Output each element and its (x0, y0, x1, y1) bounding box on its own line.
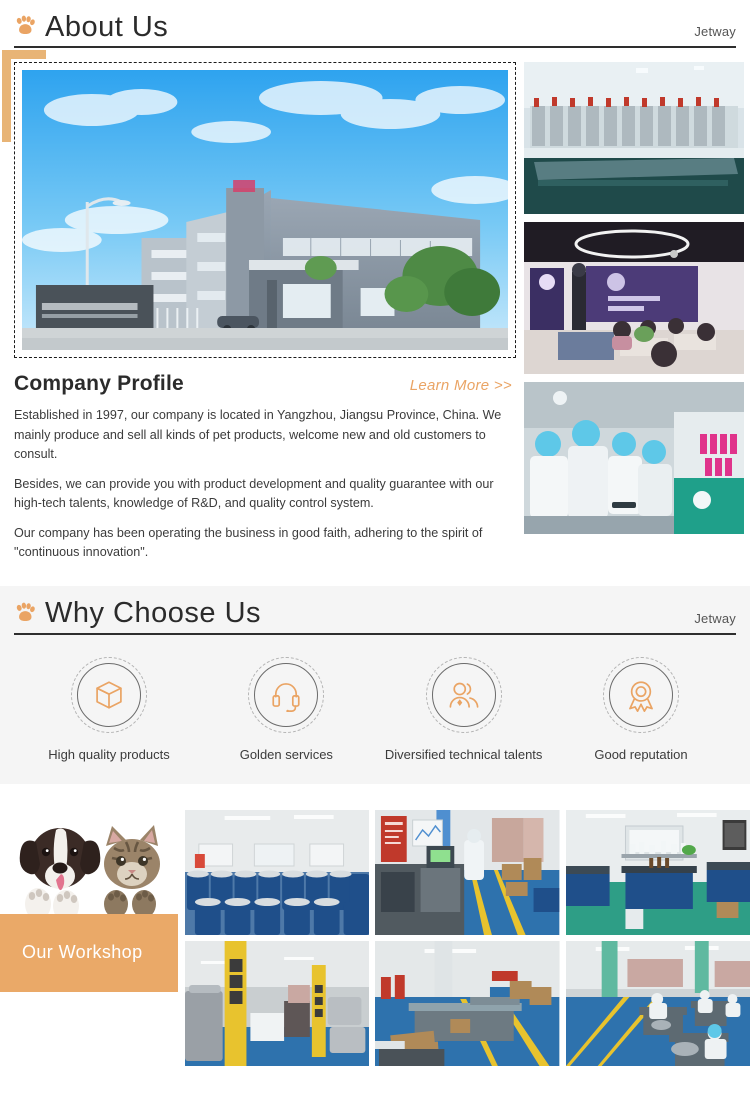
about-us-page: About Us Jetway (0, 0, 750, 1076)
feature-ring (71, 657, 147, 733)
sewing-workshop-photo (566, 941, 750, 1066)
feature-label: Good reputation (556, 747, 726, 762)
packaging-area-photo (375, 941, 559, 1066)
workshop-photo-grid (185, 810, 750, 1066)
production-machinery-photo (375, 810, 559, 935)
profile-paragraph: Our company has been operating the busin… (14, 524, 516, 562)
profile-paragraph: Established in 1997, our company is loca… (14, 406, 516, 463)
why-header-left: Why Choose Us (14, 598, 261, 628)
award-ribbon-icon (624, 678, 658, 712)
dog-and-cat-illustration (8, 810, 174, 916)
feature-item-good-reputation[interactable]: Good reputation (556, 657, 726, 762)
company-profile: Company Profile Learn More >> Establishe… (14, 358, 516, 562)
feature-label: Diversified technical talents (379, 747, 549, 762)
workshop-banner-label: Our Workshop (22, 942, 143, 963)
workshop-banner-block: Our Workshop (0, 810, 178, 992)
why-title: Why Choose Us (45, 598, 261, 628)
why-choose-us-section: Why Choose Us Jetway High quality prod (0, 586, 750, 783)
feature-ring (603, 657, 679, 733)
profile-title: Company Profile (14, 372, 184, 396)
learn-more-link[interactable]: Learn More >> (410, 377, 512, 394)
feature-item-diversified-technical-talents[interactable]: Diversified technical talents (379, 657, 549, 762)
profile-header: Company Profile Learn More >> (14, 372, 516, 396)
paw-icon (14, 601, 36, 623)
feature-ring (426, 657, 502, 733)
about-title: About Us (45, 12, 168, 42)
hero-photo-frame (14, 62, 516, 358)
blue-barrels-storage-photo (185, 810, 369, 935)
profile-body: Established in 1997, our company is loca… (14, 396, 516, 562)
feature-label: High quality products (24, 747, 194, 762)
profile-paragraph: Besides, we can provide you with product… (14, 475, 516, 513)
feature-list: High quality products Golden service (0, 635, 750, 762)
why-brand-label: Jetway (694, 611, 736, 629)
headset-icon (269, 678, 303, 712)
about-right-photos (524, 62, 744, 534)
embroidery-machines-photo (524, 62, 744, 214)
about-header-left: About Us (14, 12, 168, 42)
laboratory-photo (566, 810, 750, 935)
why-header-row: Why Choose Us Jetway (14, 598, 736, 634)
feature-ring-inner (432, 663, 496, 727)
about-header-row: About Us Jetway (14, 12, 736, 48)
about-brand-label: Jetway (694, 24, 736, 42)
people-group-icon (447, 678, 481, 712)
pets-illustration-wrap (0, 810, 178, 914)
fabric-storage-photo (185, 941, 369, 1066)
about-section-header: About Us Jetway (0, 0, 750, 48)
paw-icon (14, 14, 36, 36)
cleanroom-workers-photo (524, 382, 744, 534)
feature-ring-inner (77, 663, 141, 727)
feature-ring-inner (254, 663, 318, 727)
feature-ring (248, 657, 324, 733)
about-content: Company Profile Learn More >> Establishe… (0, 48, 750, 562)
feature-label: Golden services (201, 747, 371, 762)
why-section-header: Why Choose Us Jetway (0, 586, 750, 634)
about-left-column: Company Profile Learn More >> Establishe… (14, 62, 516, 562)
feature-item-high-quality-products[interactable]: High quality products (24, 657, 194, 762)
workshop-banner: Our Workshop (0, 914, 178, 992)
box-3d-icon (92, 678, 126, 712)
factory-exterior-photo (22, 70, 508, 350)
training-meeting-room-photo (524, 222, 744, 374)
feature-item-golden-services[interactable]: Golden services (201, 657, 371, 762)
feature-ring-inner (609, 663, 673, 727)
workshop-section: Our Workshop (0, 784, 750, 1076)
